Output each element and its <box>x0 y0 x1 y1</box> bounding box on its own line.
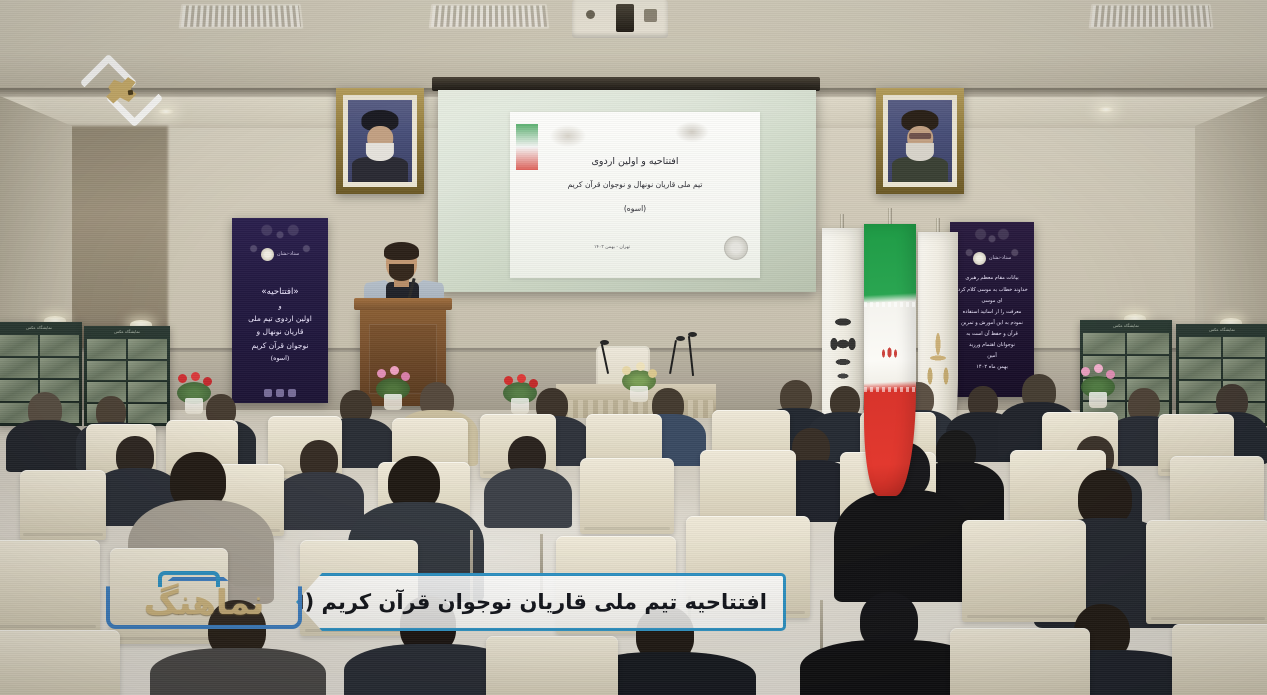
exhibit-photo <box>87 361 126 381</box>
exhibit-photo <box>128 404 167 424</box>
banner-title: بیانات مقام معظم رهبری <box>965 275 1018 282</box>
banner-line-3: معرفت را از اساتید استفاده <box>963 309 1022 316</box>
flag-kufic-band <box>864 387 916 392</box>
audience-chair <box>580 458 674 534</box>
exhibit-photo <box>0 335 38 356</box>
portrait-body <box>352 157 408 182</box>
banner-sponsor-icon <box>288 389 296 397</box>
floor-flower-arrangement <box>372 366 414 410</box>
vase <box>185 398 203 414</box>
rose <box>1094 364 1103 373</box>
presentation-slide: افتتاحیه و اولین اردوی تیم ملی قاریان نو… <box>510 112 760 278</box>
channel-watermark <box>82 60 160 118</box>
exhibit-photo <box>1223 337 1265 357</box>
board-caption: نمایشگاه عکس <box>84 329 170 337</box>
audience-chair <box>0 540 100 632</box>
portrait-image <box>348 100 412 182</box>
exhibit-photo <box>1127 356 1169 377</box>
projection-screen-housing <box>432 77 820 91</box>
projection-screen: افتتاحیه و اولین اردوی تیم ملی قاریان نو… <box>438 90 816 292</box>
downlight <box>1098 106 1114 113</box>
broadcast-frame: افتتاحیه و اولین اردوی تیم ملی قاریان نو… <box>0 0 1267 695</box>
portrait-beard <box>906 143 934 161</box>
ceiling-projector <box>572 0 668 38</box>
banner-line-4: نمودم به این آموزش و تمرین <box>961 320 1023 327</box>
standee-banner-right: ستاد-نشان بیانات مقام معظم رهبری خداوند … <box>950 222 1034 397</box>
banner-line-1: خداوند خطاب به موسی کلام کرد: <box>956 287 1027 294</box>
watermark-dot-icon <box>128 90 134 96</box>
portrait-mat <box>343 95 417 187</box>
rose <box>517 374 526 383</box>
exhibit-photo <box>1179 337 1221 357</box>
projector-mount <box>586 10 595 19</box>
ceiling-vent <box>1089 4 1214 29</box>
exhibit-photo <box>87 339 126 359</box>
exhibit-photo <box>1179 359 1221 379</box>
lower-third-text-bar: افتتاحیه تیم ملی قاریان نوجوان قرآن کریم… <box>296 573 786 631</box>
exhibit-photo <box>128 382 167 402</box>
microphone-head-icon <box>600 340 609 345</box>
exhibit-photo <box>0 358 38 379</box>
banner-signature: آمین <box>987 353 997 360</box>
microphone-head-icon <box>688 332 697 337</box>
rose <box>203 377 212 386</box>
speaker-beard <box>389 264 414 281</box>
audience-shoulders <box>150 648 326 695</box>
rose <box>1106 370 1115 379</box>
slide-seal-icon <box>724 236 748 260</box>
lower-third-banner: افتتاحیه تیم ملی قاریان نوجوان قرآن کریم… <box>100 571 786 633</box>
audience-chair <box>20 470 106 540</box>
portrait-mat <box>883 95 957 187</box>
audience-chair <box>486 636 618 695</box>
banner-line-6: نوجوانان اهتمام ورزید <box>969 342 1015 349</box>
banner-sponsor-icon <box>276 389 284 397</box>
flower <box>636 362 645 371</box>
audience-chair <box>1146 520 1267 624</box>
banner-line-4: قاریان نونهال و <box>257 327 304 336</box>
slide-hands-graphic <box>546 118 726 158</box>
floor-flower-arrangement <box>1076 364 1120 408</box>
banner-footer <box>232 385 328 401</box>
lower-third-title: افتتاحیه تیم ملی قاریان نوجوان قرآن کریم… <box>234 590 767 614</box>
banner-line-2: ای موسی <box>982 298 1003 305</box>
flag-cloth <box>864 224 916 496</box>
portrait-imam-khomeini <box>336 88 424 194</box>
slide-line-3: (اسوه) <box>524 204 746 213</box>
rose <box>529 379 538 388</box>
banner-body: بیانات مقام معظم رهبری خداوند خطاب به مو… <box>956 270 1028 377</box>
exhibit-photo <box>40 335 79 356</box>
projector-lens-icon <box>616 4 634 32</box>
exhibit-photo <box>1179 381 1221 401</box>
board-caption: نمایشگاه عکس <box>1080 323 1172 331</box>
slide-footer: تهران - بهمن ۱۴۰۲ <box>524 245 700 250</box>
iran-emblem-icon <box>882 344 899 359</box>
iran-national-flag <box>864 224 916 496</box>
banner-line-2: و <box>278 302 281 310</box>
banner-line-3: اولین اردوی تیم ملی <box>248 314 312 323</box>
downlight <box>158 108 174 115</box>
exhibit-photo <box>1127 333 1169 354</box>
rose <box>390 366 399 375</box>
vase <box>630 386 648 402</box>
exhibit-photo <box>1083 333 1125 354</box>
slide-line-2: تیم ملی قاریان نونهال و نوجوان قرآن کریم <box>520 180 750 189</box>
portrait-body <box>892 157 948 182</box>
audience-chair <box>1170 456 1264 530</box>
vase <box>1089 392 1107 408</box>
audience-shoulders <box>484 468 572 528</box>
rose <box>401 372 410 381</box>
audience-chair <box>962 520 1086 622</box>
banner-line-5: نوجوان قرآن کریم <box>252 341 309 350</box>
banner-emblem-icon <box>261 248 274 261</box>
vase <box>511 398 529 414</box>
projector-mount <box>644 9 657 22</box>
rose <box>191 372 200 381</box>
banner-header-text: ستاد-نشان <box>277 251 299 257</box>
portrait-glasses-icon <box>909 133 931 139</box>
flower <box>622 366 631 375</box>
portrait-ayatollah-khamenei <box>876 88 964 194</box>
banner-line-5: قرآن و حفظ آن است به <box>966 331 1018 338</box>
banner-sponsor-icon <box>264 389 272 397</box>
audience-shoulders <box>276 472 364 530</box>
flag-kufic-band <box>864 302 916 307</box>
rose <box>377 369 386 378</box>
banner-emblem-icon <box>973 252 986 265</box>
program-logo: نماهنگ <box>100 571 310 633</box>
ceiling-vent <box>429 4 550 29</box>
slide-line-1: افتتاحیه و اولین اردوی <box>524 156 746 167</box>
program-logo-text: نماهنگ <box>110 583 298 623</box>
flower <box>648 369 657 378</box>
banner-body: «افتتاحیه» و اولین اردوی تیم ملی قاریان … <box>238 266 322 383</box>
portrait-beard <box>366 143 394 161</box>
vase <box>384 394 402 410</box>
board-caption: نمایشگاه عکس <box>0 325 82 333</box>
audience-chair <box>950 628 1090 695</box>
board-caption: نمایشگاه عکس <box>1176 327 1267 335</box>
banner-header: ستاد-نشان <box>950 250 1034 266</box>
banner-line-1: «افتتاحیه» <box>261 287 298 298</box>
banner-date: بهمن ماه ۱۴۰۲ <box>976 364 1008 371</box>
audience-shoulders <box>6 420 86 472</box>
audience-chair <box>0 630 120 695</box>
rose <box>504 376 513 385</box>
banner-header-text: ستاد-نشان <box>989 255 1011 261</box>
ceiling-vent <box>179 4 304 29</box>
rose <box>1081 367 1090 376</box>
podium-top <box>354 298 452 310</box>
portrait-image <box>888 100 952 182</box>
microphone-head-icon <box>676 336 685 341</box>
exhibit-photo <box>40 358 79 379</box>
standee-banner-left: ستاد-نشان «افتتاحیه» و اولین اردوی تیم م… <box>232 218 328 403</box>
rose <box>178 374 187 383</box>
exhibit-photo <box>128 361 167 381</box>
speaker-hair <box>384 242 419 260</box>
audience-shoulders <box>834 490 976 602</box>
exhibit-photo <box>1223 359 1265 379</box>
exhibit-photo <box>128 339 167 359</box>
audience-chair <box>1172 624 1267 695</box>
banner-header: ستاد-نشان <box>232 246 328 262</box>
banner-line-6: (اسوه) <box>271 354 290 362</box>
